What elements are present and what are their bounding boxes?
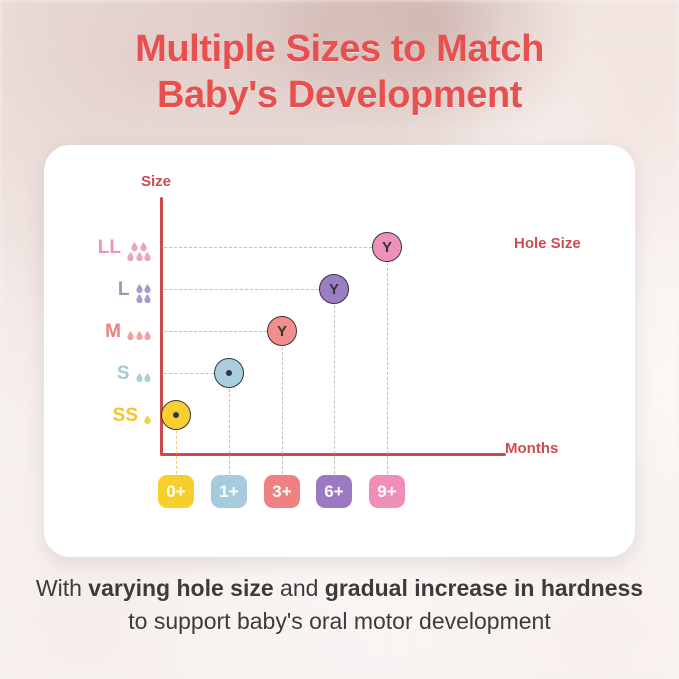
- caption: With varying hole size and gradual incre…: [24, 572, 655, 638]
- droplet-icon: [136, 248, 143, 257]
- y-label-text: S: [117, 364, 130, 383]
- y-label-text: SS: [113, 406, 138, 425]
- droplet-icon: [136, 280, 143, 289]
- data-marker-1plus: [214, 358, 244, 388]
- droplet-icon: [127, 327, 134, 336]
- gridline-vertical-3plus: [282, 347, 283, 479]
- droplet-row: [144, 411, 151, 420]
- y-cut-icon: Y: [382, 239, 392, 256]
- month-badge-9plus[interactable]: 9+: [369, 475, 405, 508]
- y-label-text: LL: [98, 238, 121, 257]
- droplet-row: [127, 327, 151, 336]
- x-axis-title: Months: [505, 440, 558, 457]
- month-badge-1plus[interactable]: 1+: [211, 475, 247, 508]
- droplet-group-m: [127, 327, 151, 336]
- gridline-horizontal-s: [164, 373, 214, 374]
- caption-part-2: and: [274, 575, 325, 601]
- y-axis-title: Size: [141, 173, 171, 190]
- gridline-horizontal-l: [164, 289, 319, 290]
- chart-card: Size Months Hole Size LLLMSSS YYY 0+1+3+…: [44, 145, 635, 557]
- y-axis-label-m: M: [44, 316, 160, 346]
- gridline-horizontal-m: [164, 331, 267, 332]
- y-axis-label-ll: LL: [44, 232, 160, 262]
- droplet-row: [131, 238, 147, 247]
- droplet-row: [136, 290, 152, 299]
- droplet-icon: [136, 327, 143, 336]
- droplet-icon: [144, 290, 151, 299]
- y-label-text: L: [118, 280, 130, 299]
- droplet-icon: [144, 411, 151, 420]
- x-axis-line: [160, 453, 506, 456]
- droplet-row: [136, 280, 152, 289]
- data-marker-3plus: Y: [267, 316, 297, 346]
- gridline-horizontal-ll: [164, 247, 372, 248]
- droplet-group-s: [136, 369, 152, 378]
- y-cut-icon: Y: [277, 323, 287, 340]
- droplet-icon: [136, 369, 143, 378]
- droplet-icon: [131, 238, 138, 247]
- y-axis-label-ss: SS: [44, 400, 160, 430]
- month-badge-0plus[interactable]: 0+: [158, 475, 194, 508]
- caption-bold-1: varying hole size: [88, 575, 273, 601]
- droplet-icon: [144, 248, 151, 257]
- droplet-icon: [144, 327, 151, 336]
- caption-bold-2: gradual increase in hardness: [325, 575, 643, 601]
- data-marker-0plus: [161, 400, 191, 430]
- caption-part-3: to support baby's oral motor development: [128, 608, 550, 634]
- gridline-vertical-9plus: [387, 263, 388, 479]
- droplet-icon: [144, 369, 151, 378]
- y-axis-label-l: L: [44, 274, 160, 304]
- gridline-vertical-1plus: [229, 389, 230, 479]
- month-badge-6plus[interactable]: 6+: [316, 475, 352, 508]
- y-axis-label-s: S: [44, 358, 160, 388]
- droplet-icon: [136, 290, 143, 299]
- round-hole-icon: [226, 370, 233, 377]
- caption-part-1: With: [36, 575, 88, 601]
- data-marker-9plus: Y: [372, 232, 402, 262]
- data-marker-6plus: Y: [319, 274, 349, 304]
- droplet-row: [127, 248, 151, 257]
- droplet-group-l: [136, 280, 152, 299]
- droplet-group-ll: [127, 238, 151, 257]
- droplet-icon: [127, 248, 134, 257]
- page-title-line-1: Multiple Sizes to Match: [0, 26, 679, 72]
- page-title-line-2: Baby's Development: [0, 72, 679, 118]
- gridline-vertical-0plus: [176, 431, 177, 479]
- droplet-row: [136, 369, 152, 378]
- legend-label-hole-size: Hole Size: [514, 235, 581, 252]
- droplet-icon: [144, 280, 151, 289]
- page-title: Multiple Sizes to Match Baby's Developme…: [0, 26, 679, 118]
- y-cut-icon: Y: [329, 281, 339, 298]
- round-hole-icon: [173, 412, 180, 419]
- droplet-group-ss: [144, 411, 151, 420]
- droplet-icon: [140, 238, 147, 247]
- month-badge-3plus[interactable]: 3+: [264, 475, 300, 508]
- y-label-text: M: [105, 322, 121, 341]
- gridline-vertical-6plus: [334, 305, 335, 479]
